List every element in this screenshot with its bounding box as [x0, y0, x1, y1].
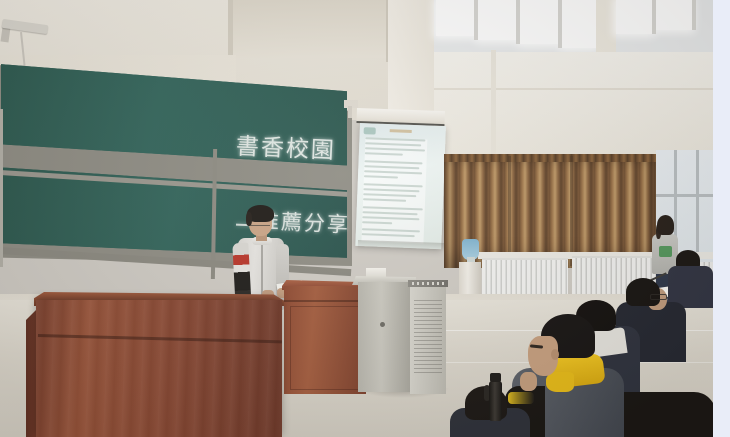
slide-logo-icon: [364, 127, 376, 134]
screen-bracket-arm: [348, 106, 352, 118]
chalkboard-heading-text: 書香校園: [235, 127, 336, 165]
curtain-rod-header: [444, 154, 656, 162]
equipment-cabinet: [358, 282, 410, 392]
wall-pillar: [491, 50, 496, 158]
student-sleeve-cuff: [508, 392, 534, 404]
lectern-groove: [284, 300, 366, 302]
standing-student-hair: [657, 215, 674, 235]
classroom-photo: 書香校園 推薦分享: [0, 0, 730, 437]
curtain-fold: [508, 156, 511, 266]
slide-document-text: [361, 137, 427, 243]
yellow-hood-fold: [546, 372, 574, 392]
thermos-cap: [490, 373, 501, 382]
podium-wood-grain: [36, 300, 282, 437]
upper-wall-band: [434, 52, 713, 157]
student-hair: [626, 278, 660, 306]
presenter-glasses-icon: [250, 221, 270, 226]
screen-bottom-bar: [358, 240, 448, 252]
curtain-fold: [570, 156, 573, 266]
thermos-bottle: [489, 381, 502, 421]
chalkboard-left-edge: [0, 109, 3, 267]
ceiling-soffit: [230, 0, 390, 58]
radiator: [482, 258, 568, 296]
cabinet-control-buttons[interactable]: [412, 282, 444, 285]
soffit-edge-left: [228, 0, 233, 60]
student-glasses-icon: [650, 294, 667, 300]
clerestory-windows: [434, 0, 713, 58]
lectern-front-panel: [290, 306, 362, 390]
student-hand: [520, 372, 537, 391]
wall-seam: [434, 88, 713, 90]
image-right-border: [713, 0, 730, 437]
student-ear: [551, 349, 559, 360]
cabinet-knob[interactable]: [380, 322, 385, 327]
slide-heading-bar: [390, 129, 412, 133]
projection-screen: [355, 123, 446, 249]
cabinet-vent-grille: [414, 300, 442, 376]
sweatshirt-graphic: [659, 246, 672, 257]
